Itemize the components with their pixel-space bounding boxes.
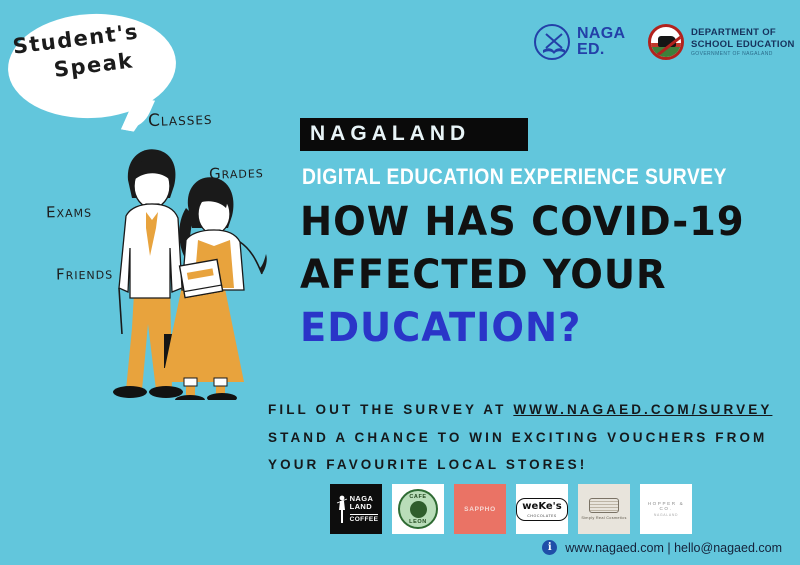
cta-prefix: FILL OUT THE SURVEY AT bbox=[268, 402, 513, 417]
leon-bottom-text: LEON bbox=[409, 519, 427, 525]
nagaed-line-2: ED. bbox=[577, 41, 605, 58]
crossed-spears-book-circle-icon bbox=[534, 24, 570, 60]
cafe-leon-badge-icon: CAFE LEON bbox=[398, 489, 438, 529]
beige-brand-emblem-icon bbox=[589, 498, 619, 513]
sponsor-sappho: SAPPHO bbox=[454, 484, 506, 534]
call-to-action: FILL OUT THE SURVEY AT WWW.NAGAED.COM/SU… bbox=[268, 396, 788, 479]
main-headline: HOW HAS COVID-19 AFFECTED YOUR EDUCATION… bbox=[300, 196, 770, 354]
beige-brand-subtext: Simply Real Cosmetics bbox=[581, 516, 626, 520]
nagaed-line-1: NAGA bbox=[577, 25, 625, 42]
sponsor-cafe-leon: CAFE LEON bbox=[392, 484, 444, 534]
nagaed-logo-text: NAGA ED. bbox=[577, 26, 625, 58]
cta-line-3: YOUR FAVOURITE LOCAL STORES! bbox=[268, 451, 788, 479]
cta-line-2: STAND A CHANCE TO WIN EXCITING VOUCHERS … bbox=[268, 424, 788, 452]
nagaland-banner: NAGALAND bbox=[300, 118, 528, 151]
wekes-text: weKe's bbox=[522, 501, 561, 512]
sponsor-logo-strip: NAGA LAND COFFEE CAFE LEON SAPPHO weKe's… bbox=[330, 484, 692, 534]
nagaed-logo: NAGA ED. bbox=[534, 24, 625, 60]
headline-line-3: EDUCATION? bbox=[300, 302, 751, 355]
department-line-1: DEPARTMENT OF bbox=[691, 27, 795, 38]
cta-line-1: FILL OUT THE SURVEY AT WWW.NAGAED.COM/SU… bbox=[268, 396, 788, 424]
headline-line-1: HOW HAS COVID-19 bbox=[300, 196, 751, 249]
department-logo-text: DEPARTMENT OF SCHOOL EDUCATION GOVERNMEN… bbox=[691, 27, 795, 57]
coffee-line-3: COFFEE bbox=[350, 514, 379, 523]
sponsor-plain-brand: HOPPER & CO. NAGALAND bbox=[640, 484, 692, 534]
lion-face-icon bbox=[410, 501, 427, 518]
plain-line-2: NAGALAND bbox=[640, 513, 692, 517]
sappho-text: SAPPHO bbox=[464, 506, 496, 513]
department-subtitle: GOVERNMENT OF NAGALAND bbox=[691, 51, 795, 57]
department-logo: DEPARTMENT OF SCHOOL EDUCATION GOVERNMEN… bbox=[648, 24, 795, 60]
headline-line-2: AFFECTED YOUR bbox=[300, 249, 751, 302]
plain-line-1: HOPPER & CO. bbox=[640, 501, 692, 511]
survey-subtitle: DIGITAL EDUCATION EXPERIENCE SURVEY bbox=[302, 164, 727, 190]
footer-contact-text: www.nagaed.com | hello@nagaed.com bbox=[565, 541, 782, 555]
wekes-subtext: CHOCOLATES bbox=[522, 514, 561, 518]
sponsor-beige-brand: Simply Real Cosmetics bbox=[578, 484, 630, 534]
sponsor-nagaland-coffee-text: NAGA LAND COFFEE bbox=[350, 495, 379, 523]
wekes-badge: weKe's CHOCOLATES bbox=[516, 498, 567, 521]
sponsor-nagaland-coffee: NAGA LAND COFFEE bbox=[330, 484, 382, 534]
plain-brand-text: HOPPER & CO. NAGALAND bbox=[640, 501, 692, 517]
students-illustration bbox=[86, 128, 276, 400]
sponsor-wekes: weKe's CHOCOLATES bbox=[516, 484, 568, 534]
coffee-line-2: LAND bbox=[350, 502, 372, 511]
department-line-2: SCHOOL EDUCATION bbox=[691, 39, 795, 50]
info-circle-icon: i bbox=[542, 540, 557, 555]
leon-top-text: CAFE bbox=[409, 494, 426, 500]
poster-canvas: Student's Speak Classes Grades Exams Fri… bbox=[0, 0, 800, 565]
footer-contact: i www.nagaed.com | hello@nagaed.com bbox=[542, 540, 782, 555]
nagaland-state-seal-icon bbox=[648, 24, 684, 60]
warrior-silhouette-icon bbox=[336, 494, 348, 524]
survey-url-link[interactable]: WWW.NAGAED.COM/SURVEY bbox=[513, 402, 772, 417]
